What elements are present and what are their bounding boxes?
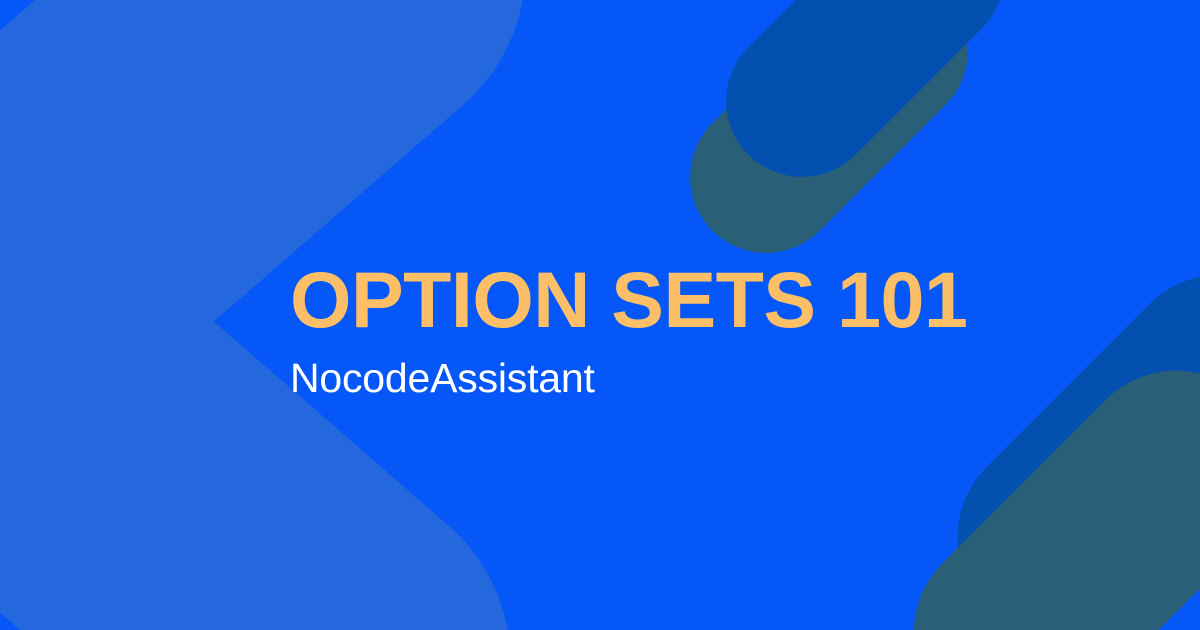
teal-pill-top-right-shape [659, 0, 1000, 284]
banner-subtitle-brand-name: NocodeAssistant [290, 342, 967, 401]
banner-text-block: OPTION SETS 101 NocodeAssistant [290, 258, 967, 401]
dark-blue-pill-top-right-shape [695, 0, 1036, 208]
banner-title: OPTION SETS 101 [290, 258, 967, 342]
social-share-banner: OPTION SETS 101 NocodeAssistant [0, 0, 1200, 630]
